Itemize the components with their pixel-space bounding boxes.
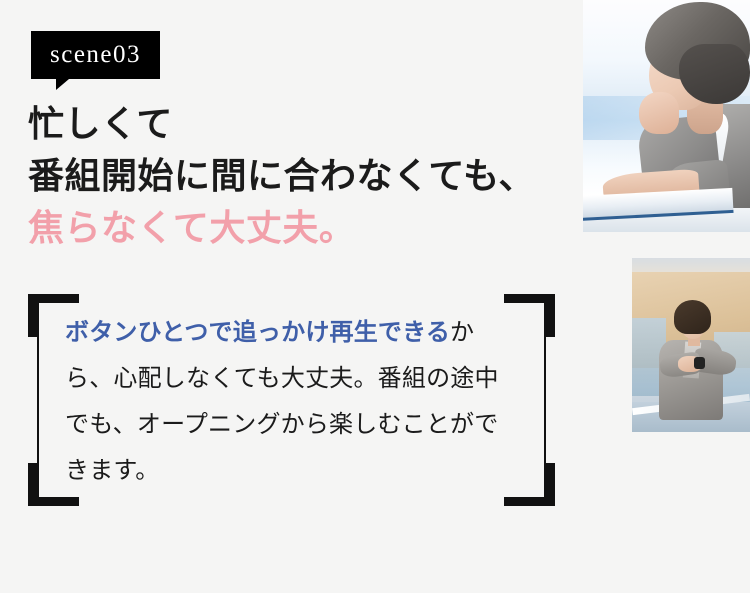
body-line-1-rest: か xyxy=(450,319,474,346)
headline-block: 忙しくて 番組開始に間に合わなくても、 焦らなくて大丈夫。 xyxy=(28,98,573,255)
photo-woman-checking-watch xyxy=(632,258,750,432)
body-text-block: ボタンひとつで追っかけ再生できるか ら、心配しなくても大丈夫。番組の途中 でも、… xyxy=(65,310,530,494)
hand-at-chin xyxy=(639,92,679,134)
headline-line-3-accent: 焦らなくて大丈夫。 xyxy=(28,202,573,254)
promo-canvas: scene03 忙しくて 番組開始に間に合わなくても、 焦らなくて大丈夫。 ボタ… xyxy=(0,0,750,593)
headline-line-2: 番組開始に間に合わなくても、 xyxy=(28,150,573,202)
body-line-3: でも、オープニングから楽しむことがで xyxy=(65,402,530,448)
photo-woman-at-laptop xyxy=(583,0,750,232)
body-line-4: きます。 xyxy=(65,448,530,494)
body-frame: ボタンひとつで追っかけ再生できるか ら、心配しなくても大丈夫。番組の途中 でも、… xyxy=(28,294,555,506)
body-highlight-phrase: ボタンひとつで追っかけ再生できる xyxy=(65,319,450,346)
hair xyxy=(674,300,711,334)
body-line-2: ら、心配しなくても大丈夫。番組の途中 xyxy=(65,356,530,402)
scene-badge: scene03 xyxy=(31,31,160,79)
headline-line-1: 忙しくて xyxy=(28,98,573,150)
wristwatch xyxy=(694,357,705,369)
body-line-1: ボタンひとつで追っかけ再生できるか xyxy=(65,310,530,356)
